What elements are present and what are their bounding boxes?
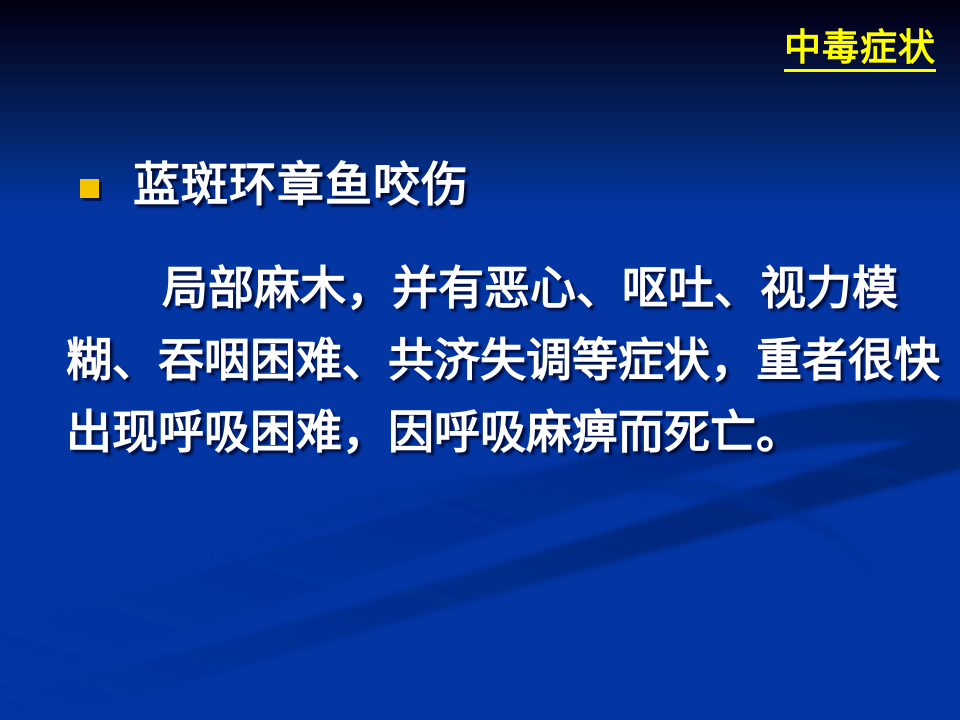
body-paragraph: 局部麻木，并有恶心、呕吐、视力模 糊、吞咽困难、共济失调等症状，重者很快 出现呼… — [66, 252, 922, 468]
body-line: 糊、吞咽困难、共济失调等症状，重者很快 — [66, 324, 922, 396]
page-title: 中毒症状 — [784, 28, 936, 72]
bullet-heading-label: 蓝斑环章鱼咬伤 — [133, 160, 469, 212]
square-bullet-icon — [80, 179, 99, 198]
slide-title-block: 中毒症状 — [784, 28, 936, 72]
bullet-heading-row: 蓝斑环章鱼咬伤 — [80, 160, 469, 212]
body-line: 局部麻木，并有恶心、呕吐、视力模 — [66, 252, 922, 324]
presentation-slide: 中毒症状 蓝斑环章鱼咬伤 局部麻木，并有恶心、呕吐、视力模 糊、吞咽困难、共济失… — [0, 0, 960, 720]
body-line: 出现呼吸困难，因呼吸麻痹而死亡。 — [66, 396, 922, 468]
